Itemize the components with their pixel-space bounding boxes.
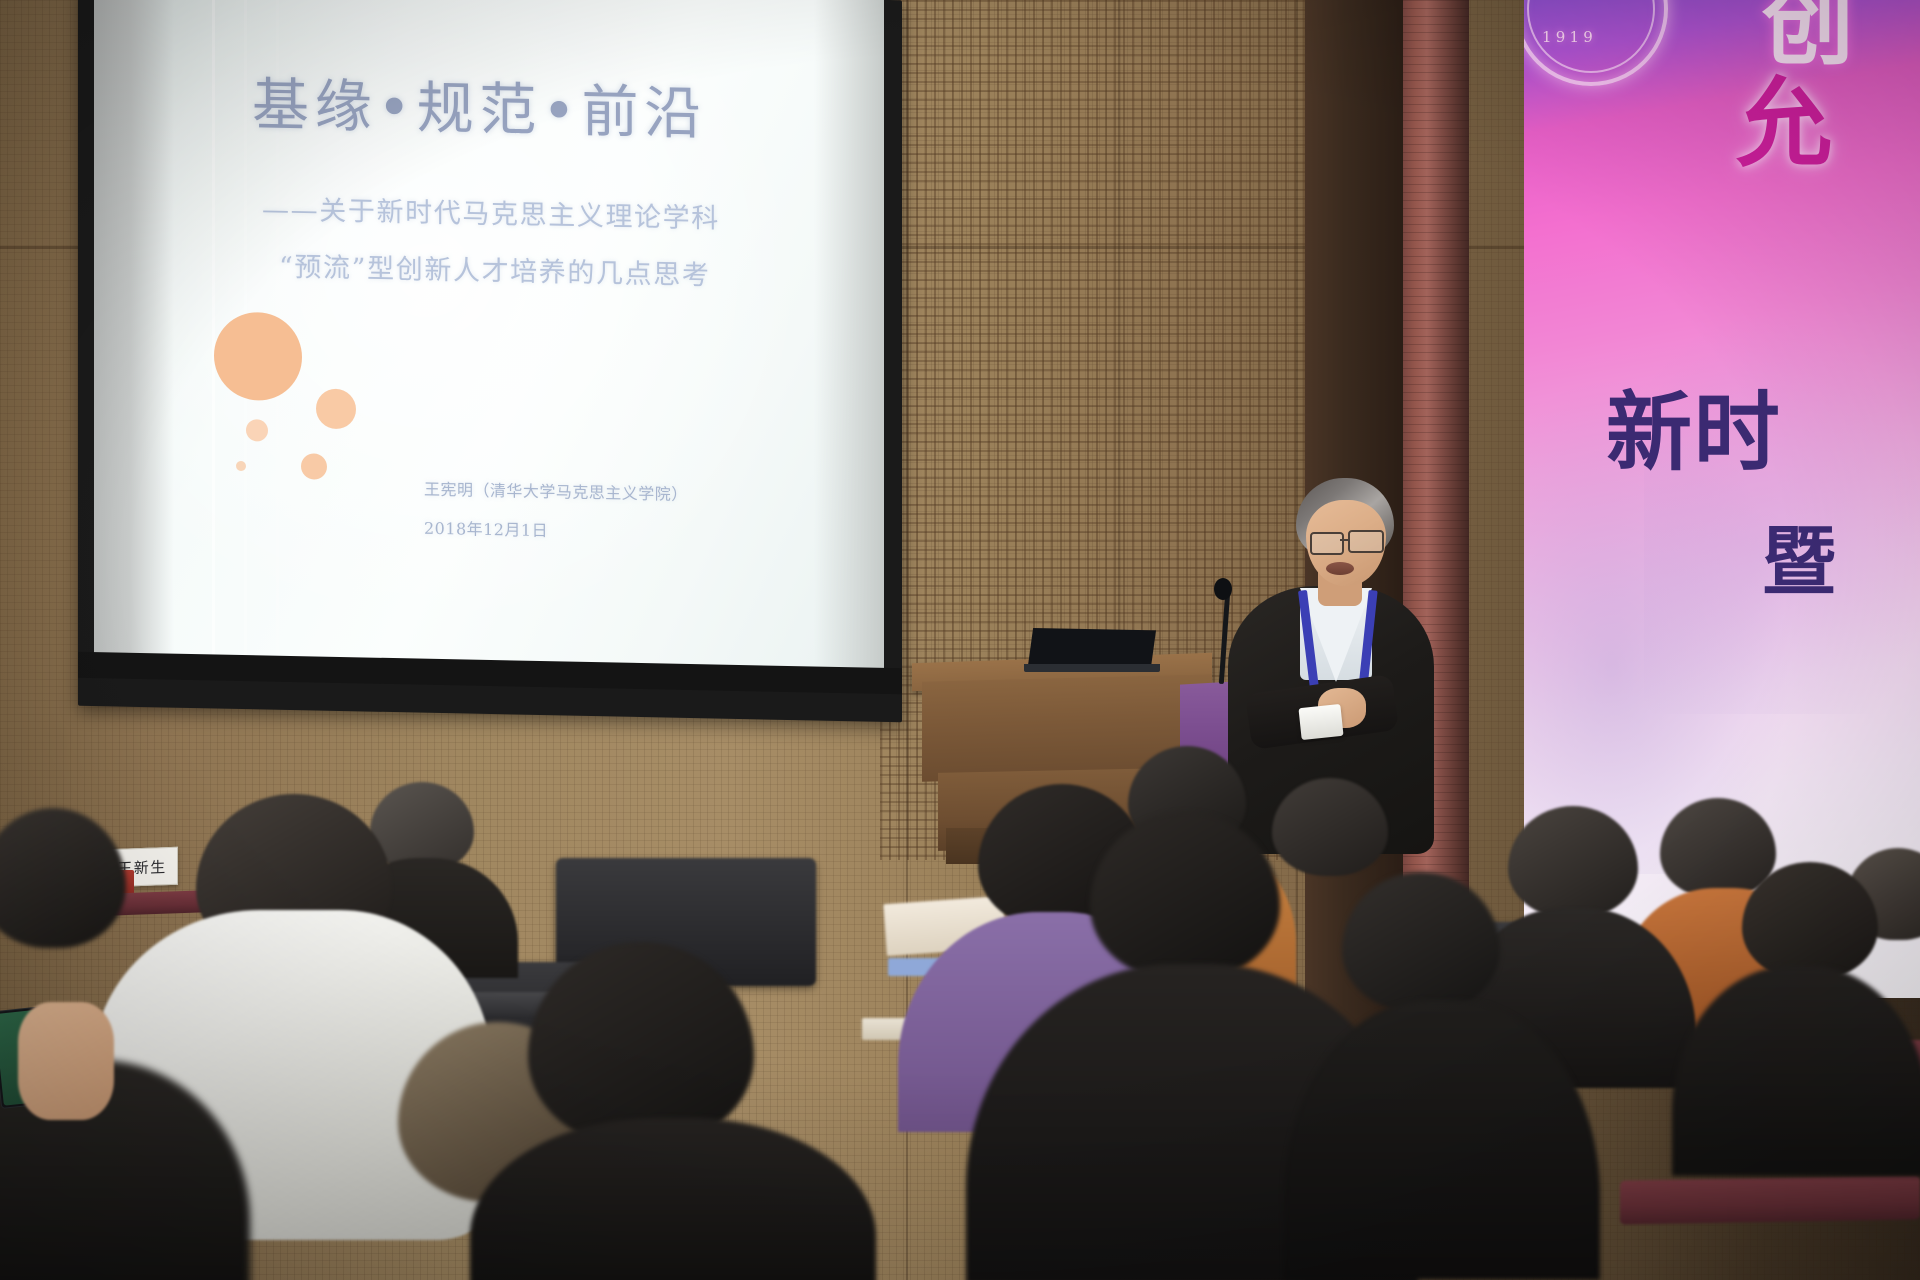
projection-screen: 基缘•规范•前沿 ——关于新时代马克思主义理论学科 “预流”型创新人才培养的几点… [78,0,902,714]
slide-right-shadow [814,0,884,672]
slide-date: 2018年12月1日 [424,515,548,541]
speaker-held-paper [1298,704,1343,740]
slide-left-shadow [94,0,174,658]
slide-decor-circle-small [246,419,268,441]
slide-title: 基缘•规范•前沿 [252,59,707,150]
university-seal-icon: 1919 [1524,0,1668,86]
banner-subline: 暨 [1762,502,1837,609]
speaker-glasses-bridge [1340,539,1350,541]
pillar-texture [1403,0,1469,1010]
speaker-glasses-left [1310,532,1344,555]
seal-year-label: 1919 [1542,28,1597,46]
desk-row-right [1620,1175,1920,1224]
microphone-head [1214,578,1232,600]
slide-decor-circle-large [214,311,302,401]
slide-streak [212,0,215,658]
audience-head [1272,778,1388,876]
red-pillar [1403,0,1469,1010]
audience-hand-holding-phone [18,1002,114,1120]
banner-calligraphy-left: 允 [1736,46,1832,185]
slide-decor-circle-xsmall [301,453,327,480]
laptop-icon [1028,628,1156,668]
speaker-mouth [1326,562,1354,575]
banner-headline: 新时 [1606,362,1781,487]
slide-decor-circle-medium [316,389,356,430]
slide-decor-dot [236,461,246,471]
lecture-hall-photo: 基缘•规范•前沿 ——关于新时代马克思主义理论学科 “预流”型创新人才培养的几点… [0,0,1920,1280]
speaker-glasses-right [1348,530,1384,553]
screen-surface: 基缘•规范•前沿 ——关于新时代马克思主义理论学科 “预流”型创新人才培养的几点… [94,0,884,672]
laptop-base [1024,664,1160,672]
